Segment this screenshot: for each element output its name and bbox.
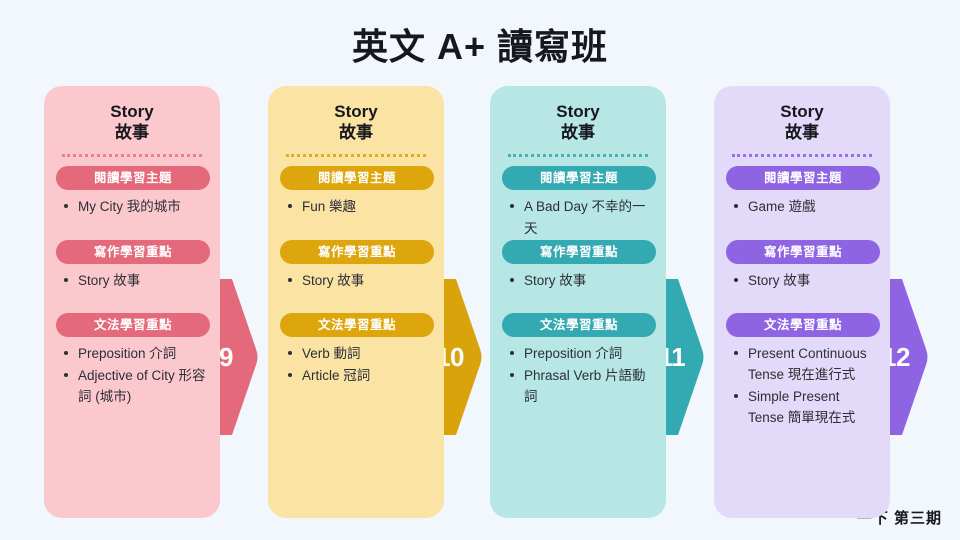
- list-item: Preposition 介詞: [508, 343, 654, 364]
- section-pill-grammar: 文法學習重點: [280, 313, 434, 337]
- card-header: Story 故事: [56, 100, 208, 143]
- card-header: Story 故事: [280, 100, 432, 143]
- list-item: Story 故事: [286, 270, 432, 291]
- section-pill-grammar: 文法學習重點: [502, 313, 656, 337]
- writing-list: Story 故事: [286, 270, 432, 291]
- section-pill-reading: 閱讀學習主題: [502, 166, 656, 190]
- reading-list: My City 我的城市: [62, 196, 208, 217]
- list-item: A Bad Day 不幸的一天: [508, 196, 654, 238]
- slide-root: 英文 A+ 讀寫班 9 10 11 12: [0, 0, 960, 540]
- list-item: Article 冠詞: [286, 365, 432, 386]
- list-item: Adjective of City 形容詞 (城市): [62, 365, 208, 407]
- list-item: Simple Present Tense 簡單現在式: [732, 386, 878, 428]
- section-pill-writing: 寫作學習重點: [280, 240, 434, 264]
- section-pill-reading: 閱讀學習主題: [280, 166, 434, 190]
- list-item: My City 我的城市: [62, 196, 208, 217]
- dotted-divider: [732, 154, 872, 157]
- card-title-zh: 故事: [56, 123, 208, 144]
- section-pill-writing: 寫作學習重點: [726, 240, 880, 264]
- list-item: Story 故事: [508, 270, 654, 291]
- card-header: Story 故事: [502, 100, 654, 143]
- reading-list: Fun 樂趣: [286, 196, 432, 217]
- card-title-en: Story: [726, 102, 878, 123]
- list-item: Present Continuous Tense 現在進行式: [732, 343, 878, 385]
- grammar-list: Present Continuous Tense 現在進行式 Simple Pr…: [732, 343, 878, 428]
- reading-list: Game 遊戲: [732, 196, 878, 217]
- card-title-en: Story: [502, 102, 654, 123]
- list-item: Story 故事: [62, 270, 208, 291]
- dotted-divider: [286, 154, 426, 157]
- lesson-card-10[interactable]: Story 故事 閱讀學習主題 Fun 樂趣 寫作學習重點 Story 故事 文…: [268, 86, 444, 518]
- list-item: Story 故事: [732, 270, 878, 291]
- section-pill-grammar: 文法學習重點: [56, 313, 210, 337]
- curriculum-cards: 9 10 11 12 Story 故事 閱: [0, 86, 960, 518]
- card-header: Story 故事: [726, 100, 878, 143]
- section-pill-grammar: 文法學習重點: [726, 313, 880, 337]
- card-title-zh: 故事: [502, 123, 654, 144]
- section-pill-reading: 閱讀學習主題: [56, 166, 210, 190]
- lesson-card-9[interactable]: Story 故事 閱讀學習主題 My City 我的城市 寫作學習重點 Stor…: [44, 86, 220, 518]
- writing-list: Story 故事: [508, 270, 654, 291]
- list-item: Verb 動詞: [286, 343, 432, 364]
- writing-list: Story 故事: [62, 270, 208, 291]
- card-title-en: Story: [56, 102, 208, 123]
- card-title-en: Story: [280, 102, 432, 123]
- list-item: Fun 樂趣: [286, 196, 432, 217]
- dotted-divider: [508, 154, 648, 157]
- section-pill-reading: 閱讀學習主題: [726, 166, 880, 190]
- card-title-zh: 故事: [726, 123, 878, 144]
- page-title: 英文 A+ 讀寫班: [0, 18, 960, 70]
- section-pill-writing: 寫作學習重點: [56, 240, 210, 264]
- dotted-divider: [62, 154, 202, 157]
- writing-list: Story 故事: [732, 270, 878, 291]
- card-title-zh: 故事: [280, 123, 432, 144]
- grammar-list: Verb 動詞 Article 冠詞: [286, 343, 432, 386]
- list-item: Phrasal Verb 片語動詞: [508, 365, 654, 407]
- list-item: Game 遊戲: [732, 196, 878, 217]
- reading-list: A Bad Day 不幸的一天: [508, 196, 654, 238]
- lesson-card-12[interactable]: Story 故事 閱讀學習主題 Game 遊戲 寫作學習重點 Story 故事 …: [714, 86, 890, 518]
- grammar-list: Preposition 介詞 Phrasal Verb 片語動詞: [508, 343, 654, 407]
- section-pill-writing: 寫作學習重點: [502, 240, 656, 264]
- lesson-card-11[interactable]: Story 故事 閱讀學習主題 A Bad Day 不幸的一天 寫作學習重點 S…: [490, 86, 666, 518]
- grammar-list: Preposition 介詞 Adjective of City 形容詞 (城市…: [62, 343, 208, 407]
- list-item: Preposition 介詞: [62, 343, 208, 364]
